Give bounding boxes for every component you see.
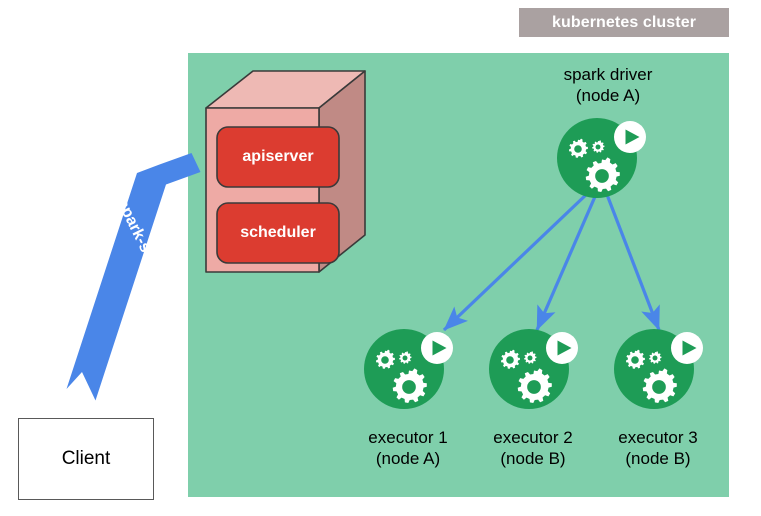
executor-3-play-icon xyxy=(671,332,703,364)
spark-driver-label: spark driver (node A) xyxy=(508,64,708,106)
executor-1-label: executor 1 (node A) xyxy=(338,427,478,469)
spark-submit-arrow xyxy=(67,153,201,401)
scheduler-component[interactable] xyxy=(217,203,339,263)
connector-driver-executor-3 xyxy=(606,192,659,330)
executor-3-label: executor 3 (node B) xyxy=(588,427,728,469)
executor-2-label: executor 2 (node B) xyxy=(463,427,603,469)
client-label: Client xyxy=(62,448,111,470)
spark-driver-node[interactable] xyxy=(557,118,646,198)
executor-3-node[interactable] xyxy=(614,329,703,409)
executor-1-play-icon xyxy=(421,332,453,364)
executor-2-node[interactable] xyxy=(489,329,578,409)
executor-2-play-icon xyxy=(546,332,578,364)
apiserver-component[interactable] xyxy=(217,127,339,187)
diagram-canvas: kubernetes cluster xyxy=(0,0,761,516)
driver-executor-connectors xyxy=(444,192,659,330)
spark-driver-play-icon xyxy=(614,121,646,153)
client-box[interactable]: Client xyxy=(18,418,154,500)
executor-1-node[interactable] xyxy=(364,329,453,409)
control-plane-cube xyxy=(206,71,365,272)
